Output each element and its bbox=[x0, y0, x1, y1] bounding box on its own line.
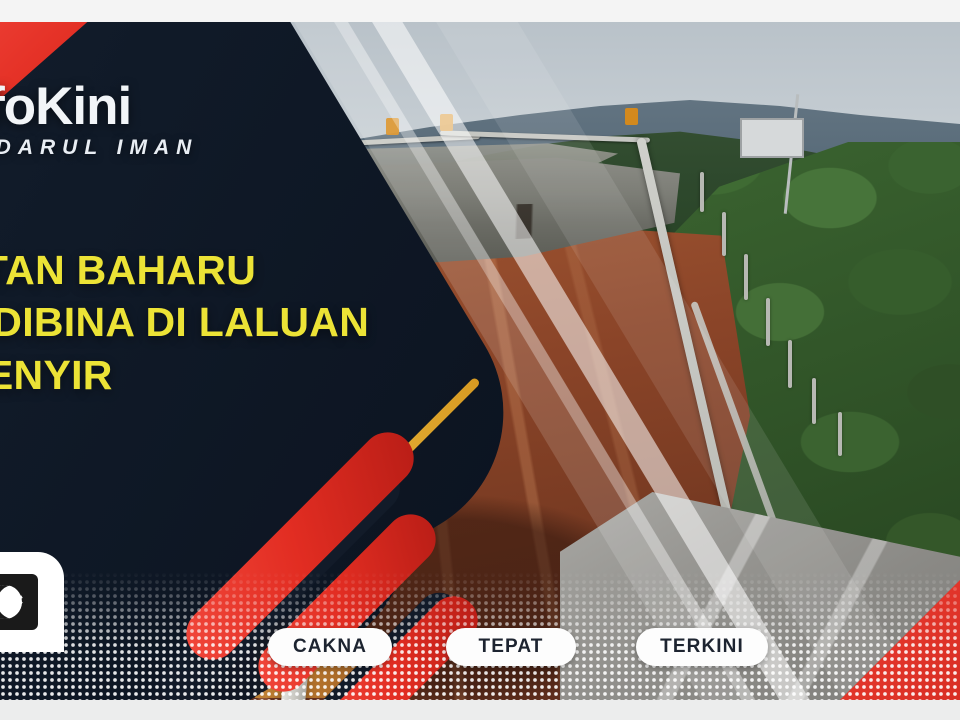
guardrail-post bbox=[766, 298, 770, 346]
road-sign-board bbox=[740, 118, 804, 158]
guardrail-post bbox=[788, 340, 792, 388]
tagline-pill-cakna[interactable]: CAKNA bbox=[268, 628, 392, 666]
chevron-road-sign bbox=[625, 108, 638, 125]
chevron-road-sign bbox=[440, 114, 453, 131]
headline-line-2: L DIBINA DI LALUAN bbox=[0, 296, 476, 348]
headline: ATAN BAHARU L DIBINA DI LALUAN KENYIR bbox=[0, 244, 476, 401]
tagline-pill-tepat[interactable]: TEPAT bbox=[446, 628, 576, 666]
chevron-road-sign bbox=[386, 118, 399, 135]
headline-line-1: ATAN BAHARU bbox=[0, 244, 476, 296]
guardrail-post bbox=[744, 254, 748, 300]
brand-logo[interactable]: InfoKini TV DARUL IMAN bbox=[0, 80, 198, 158]
headline-line-3: KENYIR bbox=[0, 349, 476, 401]
tagline-pill-terkini[interactable]: TERKINI bbox=[636, 628, 768, 666]
guardrail-post bbox=[838, 412, 842, 456]
guardrail-post bbox=[722, 212, 726, 256]
guardrail-post bbox=[700, 172, 704, 212]
tagline-pill-row: CAKNA TEPAT TERKINI bbox=[0, 628, 960, 666]
brand-name: InfoKini bbox=[0, 80, 198, 133]
thumbnail-canvas: InfoKini TV DARUL IMAN ATAN BAHARU L DIB… bbox=[0, 0, 960, 720]
brand-subtitle: TV DARUL IMAN bbox=[0, 137, 198, 158]
guardrail-post bbox=[812, 378, 816, 424]
artwork-frame: InfoKini TV DARUL IMAN ATAN BAHARU L DIB… bbox=[0, 22, 960, 700]
bottom-letterbox-band bbox=[0, 700, 960, 720]
top-letterbox-band bbox=[0, 0, 960, 22]
star-icon: ✱ bbox=[8, 592, 24, 611]
